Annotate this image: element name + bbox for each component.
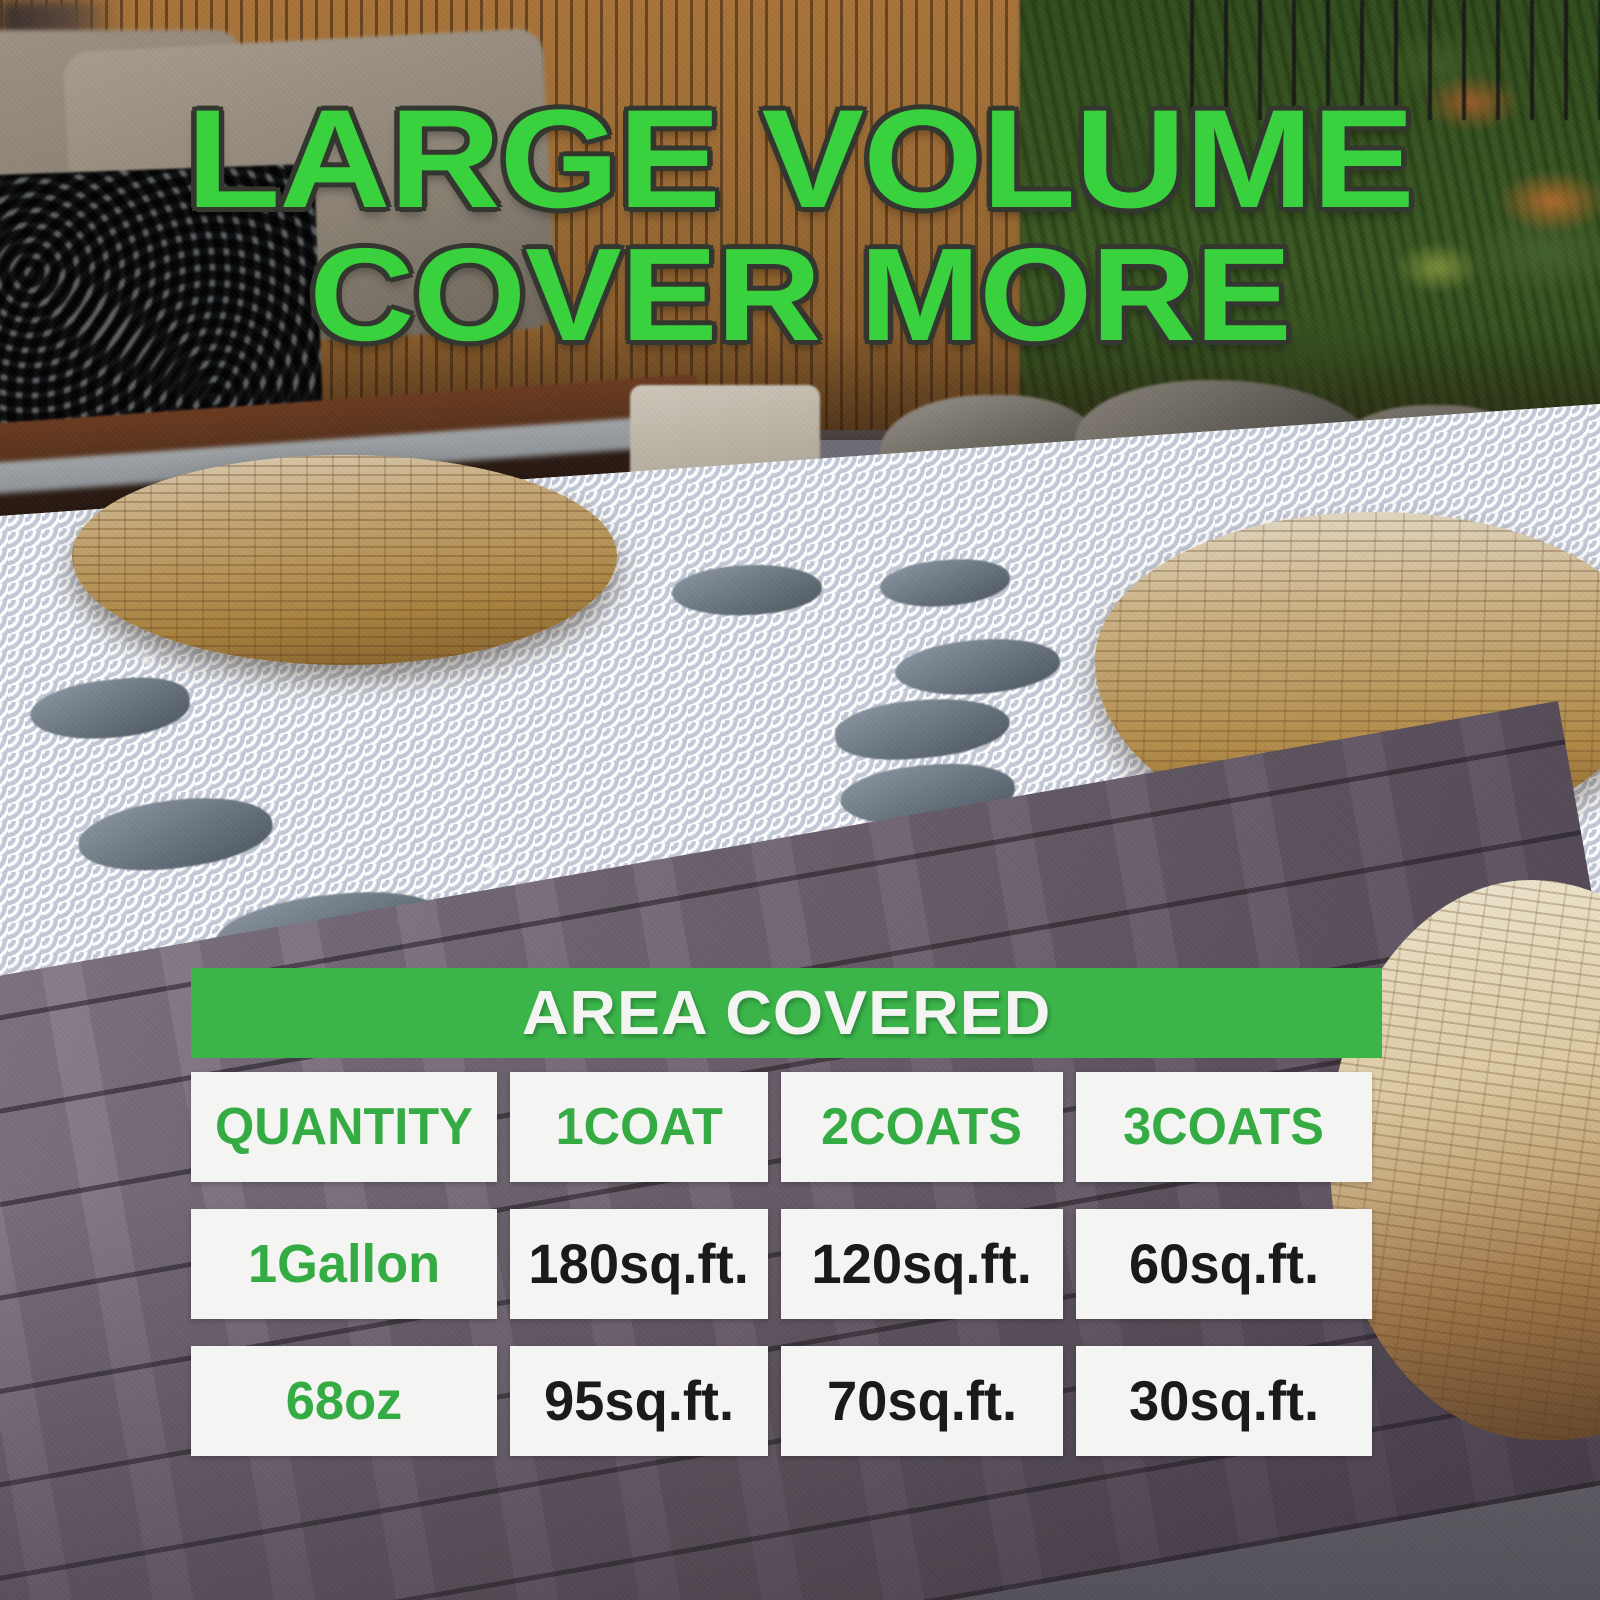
table-title-bar: AREA COVERED bbox=[191, 968, 1382, 1058]
column-header-label: QUANTITY bbox=[215, 1101, 473, 1153]
table-header-row: QUANTITY 1COAT 2COATS 3COATS bbox=[191, 1072, 1382, 1182]
column-header-quantity: QUANTITY bbox=[191, 1072, 497, 1182]
row-3coats-cell: 60sq.ft. bbox=[1076, 1209, 1372, 1319]
row-1coat-cell: 95sq.ft. bbox=[510, 1346, 768, 1456]
column-header-label: 1COAT bbox=[555, 1101, 722, 1153]
cell-value: 180sq.ft. bbox=[529, 1236, 749, 1292]
column-header-label: 3COATS bbox=[1124, 1101, 1325, 1153]
cell-value: 70sq.ft. bbox=[827, 1373, 1017, 1429]
column-header-2coats: 2COATS bbox=[781, 1072, 1063, 1182]
cell-value: 120sq.ft. bbox=[812, 1236, 1032, 1292]
row-quantity-cell: 1Gallon bbox=[191, 1209, 497, 1319]
row-1coat-cell: 180sq.ft. bbox=[510, 1209, 768, 1319]
column-header-label: 2COATS bbox=[822, 1101, 1023, 1153]
table-grid: QUANTITY 1COAT 2COATS 3COATS 1Gallon 180… bbox=[191, 1072, 1382, 1456]
row-quantity-cell: 68oz bbox=[191, 1346, 497, 1456]
table-title: AREA COVERED bbox=[522, 978, 1052, 1049]
cell-value: 95sq.ft. bbox=[544, 1373, 734, 1429]
column-header-1coat: 1COAT bbox=[510, 1072, 768, 1182]
promo-image: LARGE VOLUME COVER MORE AREA COVERED QUA… bbox=[0, 0, 1600, 1600]
row-3coats-cell: 30sq.ft. bbox=[1076, 1346, 1372, 1456]
cell-value: 30sq.ft. bbox=[1129, 1373, 1319, 1429]
cell-value: 68oz bbox=[286, 1374, 402, 1428]
row-2coats-cell: 70sq.ft. bbox=[781, 1346, 1063, 1456]
cell-value: 60sq.ft. bbox=[1129, 1236, 1319, 1292]
column-header-3coats: 3COATS bbox=[1076, 1072, 1372, 1182]
row-2coats-cell: 120sq.ft. bbox=[781, 1209, 1063, 1319]
table-row: 68oz 95sq.ft. 70sq.ft. 30sq.ft. bbox=[191, 1346, 1382, 1456]
area-covered-table: AREA COVERED QUANTITY 1COAT 2COATS 3COAT… bbox=[191, 968, 1382, 1456]
cell-value: 1Gallon bbox=[248, 1237, 440, 1291]
table-row: 1Gallon 180sq.ft. 120sq.ft. 60sq.ft. bbox=[191, 1209, 1382, 1319]
